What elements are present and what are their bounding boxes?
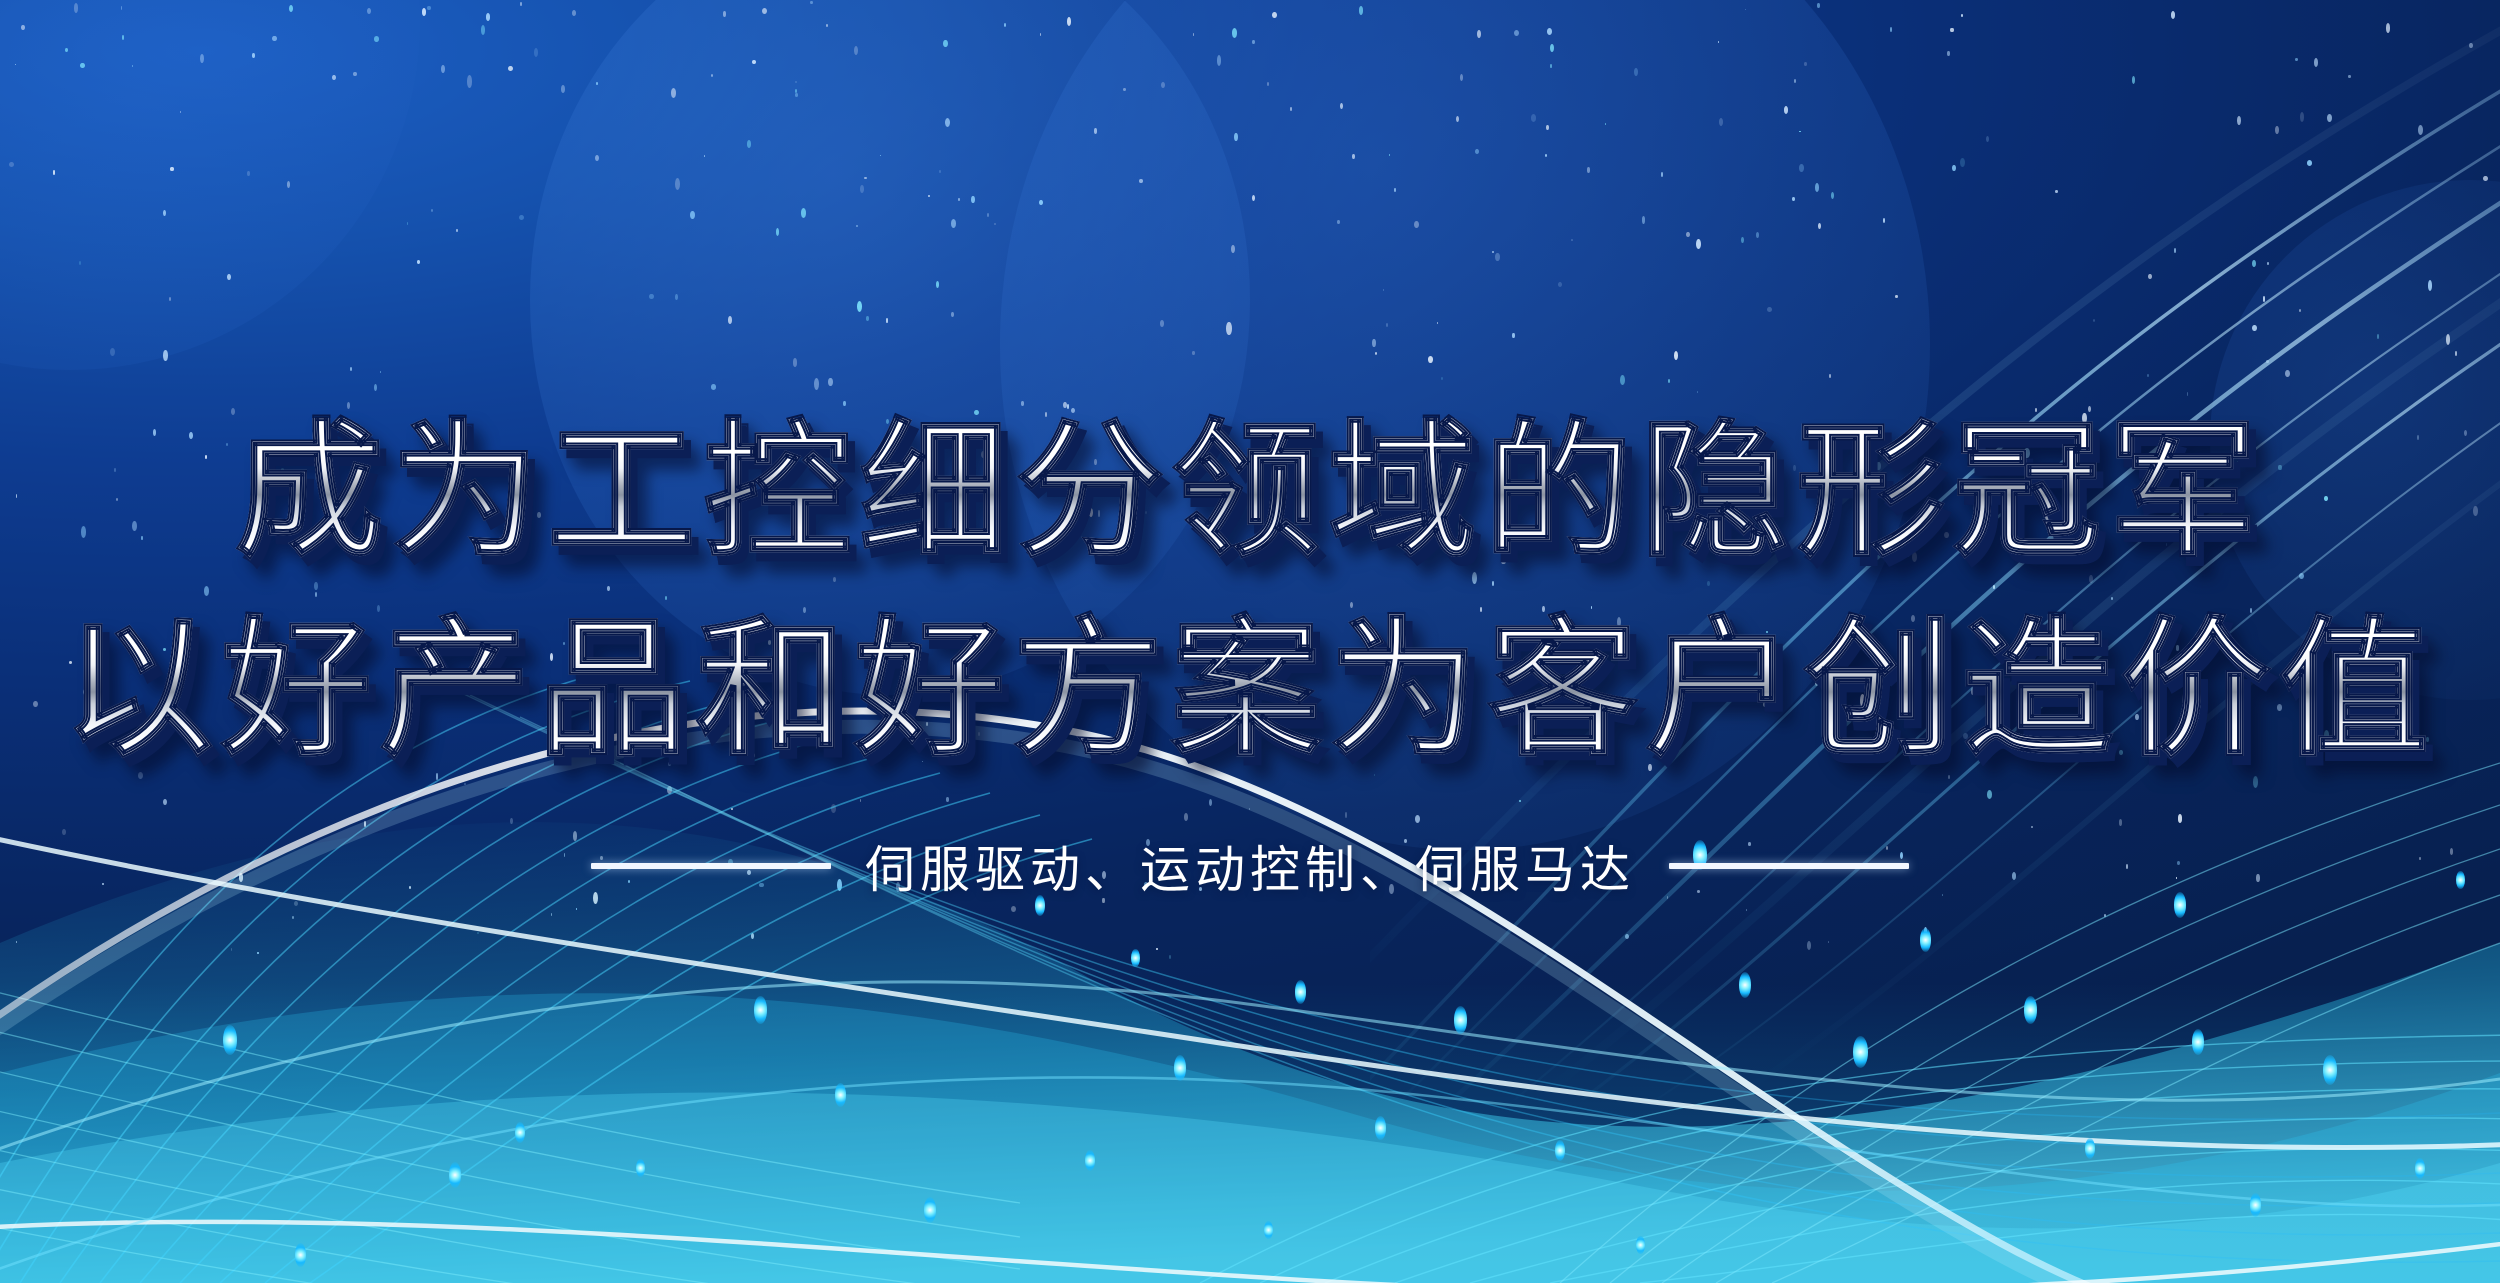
subtitle-rule-right [1669,863,1909,869]
headline-line-2: 以好产品和好方案为客户创造价值 [0,614,2500,764]
headline-line-1: 成为工控细分领域的隐形冠军 [0,418,2500,566]
banner-content: 成为工控细分领域的隐形冠军 以好产品和好方案为客户创造价值 伺服驱动、运动控制、… [0,0,2500,1283]
subtitle-row: 伺服驱动、运动控制、伺服马达 [0,830,2500,902]
banner-root: 成为工控细分领域的隐形冠军 以好产品和好方案为客户创造价值 伺服驱动、运动控制、… [0,0,2500,1283]
subtitle-rule-left [591,863,831,869]
subtitle-text: 伺服驱动、运动控制、伺服马达 [865,830,1635,902]
